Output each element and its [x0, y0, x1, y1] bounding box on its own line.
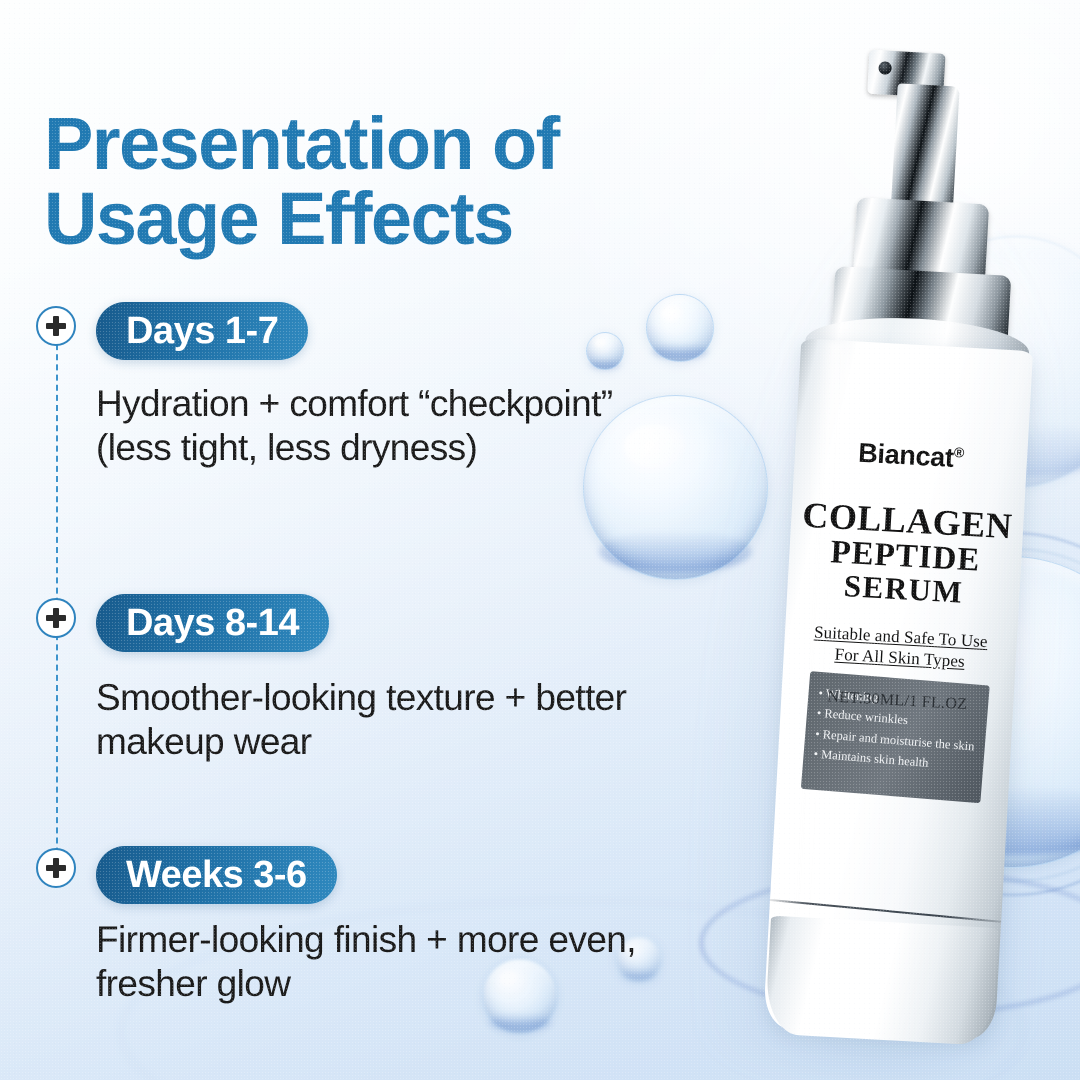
bottle-base	[765, 916, 999, 1047]
timeline-badge-days-1-7: Days 1-7	[96, 302, 308, 360]
product-usage-effects-poster: Presentation of Usage Effects Days 1-7 H…	[0, 0, 1080, 1080]
plus-icon	[36, 598, 76, 638]
timeline-description-days-8-14: Smoother-looking texture + better makeup…	[96, 676, 636, 763]
product-bottle-image: Biancat® COLLAGEN PEPTIDE SERUM Suitable…	[654, 11, 1080, 1080]
pump-neck	[891, 83, 960, 211]
usage-timeline: Days 1-7 Hydration + comfort “checkpoint…	[0, 0, 700, 1080]
plus-icon	[36, 306, 76, 346]
nozzle-opening-icon	[878, 61, 892, 75]
brand-name: Biancat	[858, 438, 955, 473]
registered-trademark-icon: ®	[954, 444, 965, 461]
timeline-connector	[56, 334, 58, 624]
timeline-description-days-1-7: Hydration + comfort “checkpoint” (less t…	[96, 382, 616, 469]
timeline-badge-weeks-3-6: Weeks 3-6	[96, 846, 337, 904]
timeline-connector	[56, 624, 58, 874]
plus-icon	[36, 848, 76, 888]
product-name: COLLAGEN PEPTIDE SERUM	[787, 496, 1024, 612]
timeline-badge-days-8-14: Days 8-14	[96, 594, 329, 652]
timeline-description-weeks-3-6: Firmer-looking finish + more even, fresh…	[96, 918, 676, 1005]
